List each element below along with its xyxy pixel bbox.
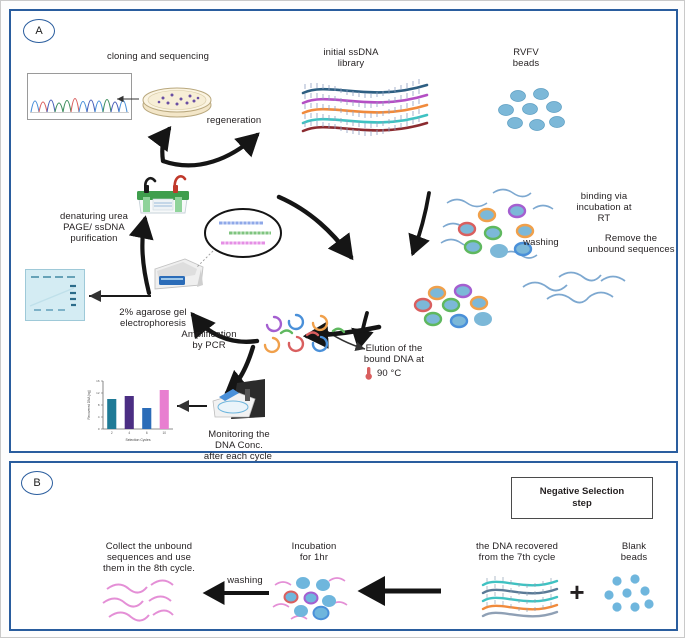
agarose-gel-image — [25, 269, 85, 321]
gel-bands — [26, 270, 84, 320]
chart-bar — [142, 408, 151, 429]
chart-ytick-label: 8 — [98, 403, 100, 407]
dna-concentration-bar-chart: 0481216 24610 Recovered DNA [ng] Selecti… — [83, 377, 179, 443]
chart-bar — [107, 399, 116, 429]
label-amplification-line1: Amplification — [159, 329, 259, 341]
unbound-sequences — [519, 263, 649, 311]
label-washing: washing — [511, 237, 571, 249]
urea-page-apparatus-icon — [129, 163, 197, 215]
label-elution-line2: bound DNA at — [339, 354, 449, 366]
label-monitoring-line1: Monitoring the — [169, 429, 309, 441]
label-ssdna-library-line1: initial ssDNA — [301, 47, 401, 59]
bound-beads-cluster — [413, 283, 513, 335]
label-rvfv-beads-line1: RVFV — [481, 47, 571, 59]
chart-ytick-label: 16 — [96, 379, 100, 383]
chart-ytick-label: 0 — [98, 427, 100, 431]
dsdna-callout-bubble — [191, 207, 283, 273]
collected-unbound-sequences — [101, 575, 191, 625]
label-agarose-gel-line2: electrophoresis — [93, 318, 213, 330]
incubation-bead-cluster — [273, 571, 353, 625]
label-binding-line3: RT — [549, 213, 659, 225]
figure-root: A — [0, 0, 685, 638]
label-monitoring-line2: DNA Conc. — [169, 440, 309, 452]
panel-a: A — [9, 9, 678, 453]
label-ssdna-library-line2: library — [301, 58, 401, 70]
label-rvfv-beads-line2: beads — [481, 58, 571, 70]
chart-bar — [125, 396, 134, 429]
plus-sign: + — [565, 579, 589, 605]
svg-text:Recovered DNA [ng]: Recovered DNA [ng] — [87, 390, 91, 419]
svg-text:Selection Cycles: Selection Cycles — [125, 438, 150, 442]
label-remove-line2: unbound sequences — [577, 244, 685, 256]
chart-xtick-label: 6 — [146, 431, 148, 435]
label-denaturing-line3: purification — [39, 233, 149, 245]
label-binding-line2: incubation at — [549, 202, 659, 214]
ssdna-library-strands — [299, 77, 439, 137]
chart-bar — [160, 390, 169, 429]
label-agarose-gel-line1: 2% agarose gel — [93, 307, 213, 319]
chart-ytick-label: 12 — [96, 391, 100, 395]
label-remove-line1: Remove the — [583, 233, 679, 245]
rvfv-beads-cluster — [495, 85, 575, 140]
chart-xtick-label: 4 — [128, 431, 130, 435]
label-denaturing-line1: denaturing urea — [39, 211, 149, 223]
panel-b: B Negative Selection step Collect the un… — [9, 461, 678, 631]
label-binding-line1: binding via — [549, 191, 659, 203]
label-denaturing-line2: PAGE/ ssDNA — [39, 222, 149, 234]
thermometer-icon — [363, 366, 375, 380]
eluted-dna-fragments — [259, 307, 351, 357]
label-amplification-line2: by PCR — [159, 340, 259, 352]
recovered-dna-strands — [479, 573, 563, 621]
chart-xtick-label: 2 — [111, 431, 113, 435]
chart-xtick-label: 10 — [162, 431, 166, 435]
label-regeneration: regeneration — [189, 115, 279, 127]
chart-ytick-label: 4 — [98, 415, 100, 419]
spectrophotometer-icon — [209, 377, 269, 423]
label-elution-temperature: 90 °C — [377, 368, 427, 380]
blank-beads-cluster — [603, 573, 663, 619]
label-elution-line1: Elution of the — [339, 343, 449, 355]
